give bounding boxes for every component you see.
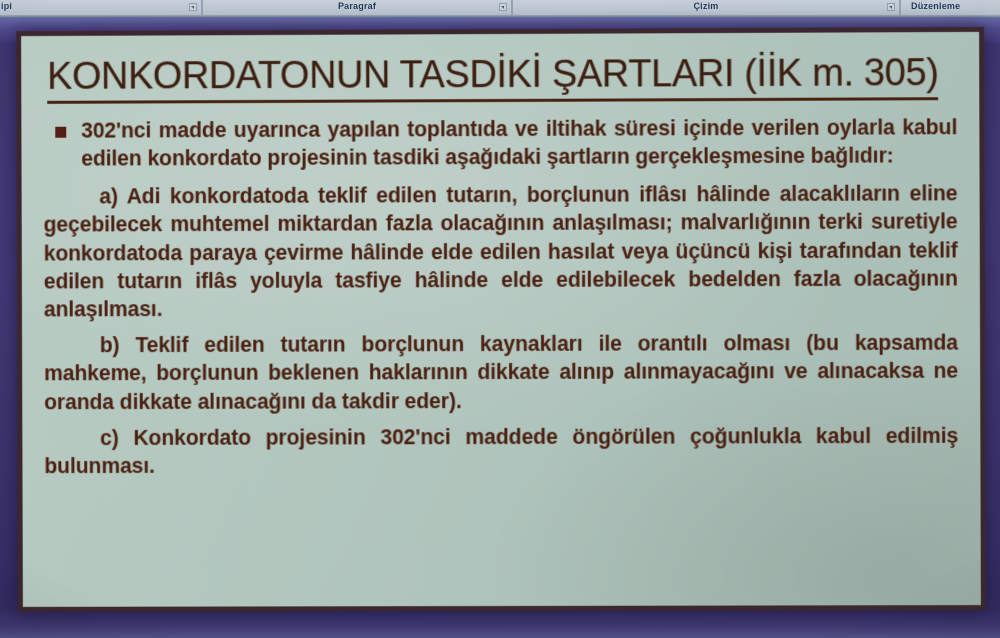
ribbon-group-label-editing: Düzenleme: [901, 1, 1000, 11]
bullet-list-item-text: 302'nci madde uyarınca yapılan toplantıd…: [81, 116, 957, 171]
presentation-slide: KONKORDATONUN TASDİKİ ŞARTLARI (İİK m. 3…: [21, 32, 981, 607]
slide-frame: KONKORDATONUN TASDİKİ ŞARTLARI (İİK m. 3…: [16, 27, 986, 612]
ribbon-group-drawing[interactable]: Çizim: [512, 0, 900, 15]
ribbon-group-label-drawing: Çizim: [513, 1, 899, 11]
ribbon-group-font[interactable]: ipi: [0, 0, 202, 15]
dialog-launcher-icon-paragraph[interactable]: [499, 3, 507, 11]
ribbon-group-label-paragraph: Paragraf: [203, 1, 511, 11]
condition-paragraph-a: a) Adi konkordatoda teklif edilen tutarı…: [43, 181, 957, 325]
slide-body: 302'nci madde uyarınca yapılan toplantıd…: [43, 114, 958, 481]
condition-paragraph-b: b) Teklif edilen tutarın borçlunun kayna…: [44, 330, 958, 417]
square-bullet-icon: [55, 127, 66, 138]
ribbon-group-paragraph[interactable]: Paragraf: [202, 0, 512, 15]
dialog-launcher-icon-drawing[interactable]: [887, 3, 895, 11]
condition-paragraph-c: c) Konkordato projesinin 302'nci maddede…: [44, 423, 958, 482]
dialog-launcher-icon-font[interactable]: [189, 3, 197, 11]
screenshot-root: ipi Paragraf Çizim Düzenleme KONKORDATON…: [0, 0, 1000, 638]
powerpoint-ribbon: ipi Paragraf Çizim Düzenleme: [0, 0, 1000, 17]
slide-title: KONKORDATONUN TASDİKİ ŞARTLARI (İİK m. 3…: [47, 54, 939, 104]
bullet-list-item: 302'nci madde uyarınca yapılan toplantıd…: [43, 114, 957, 174]
ribbon-group-editing[interactable]: Düzenleme: [900, 0, 1000, 15]
